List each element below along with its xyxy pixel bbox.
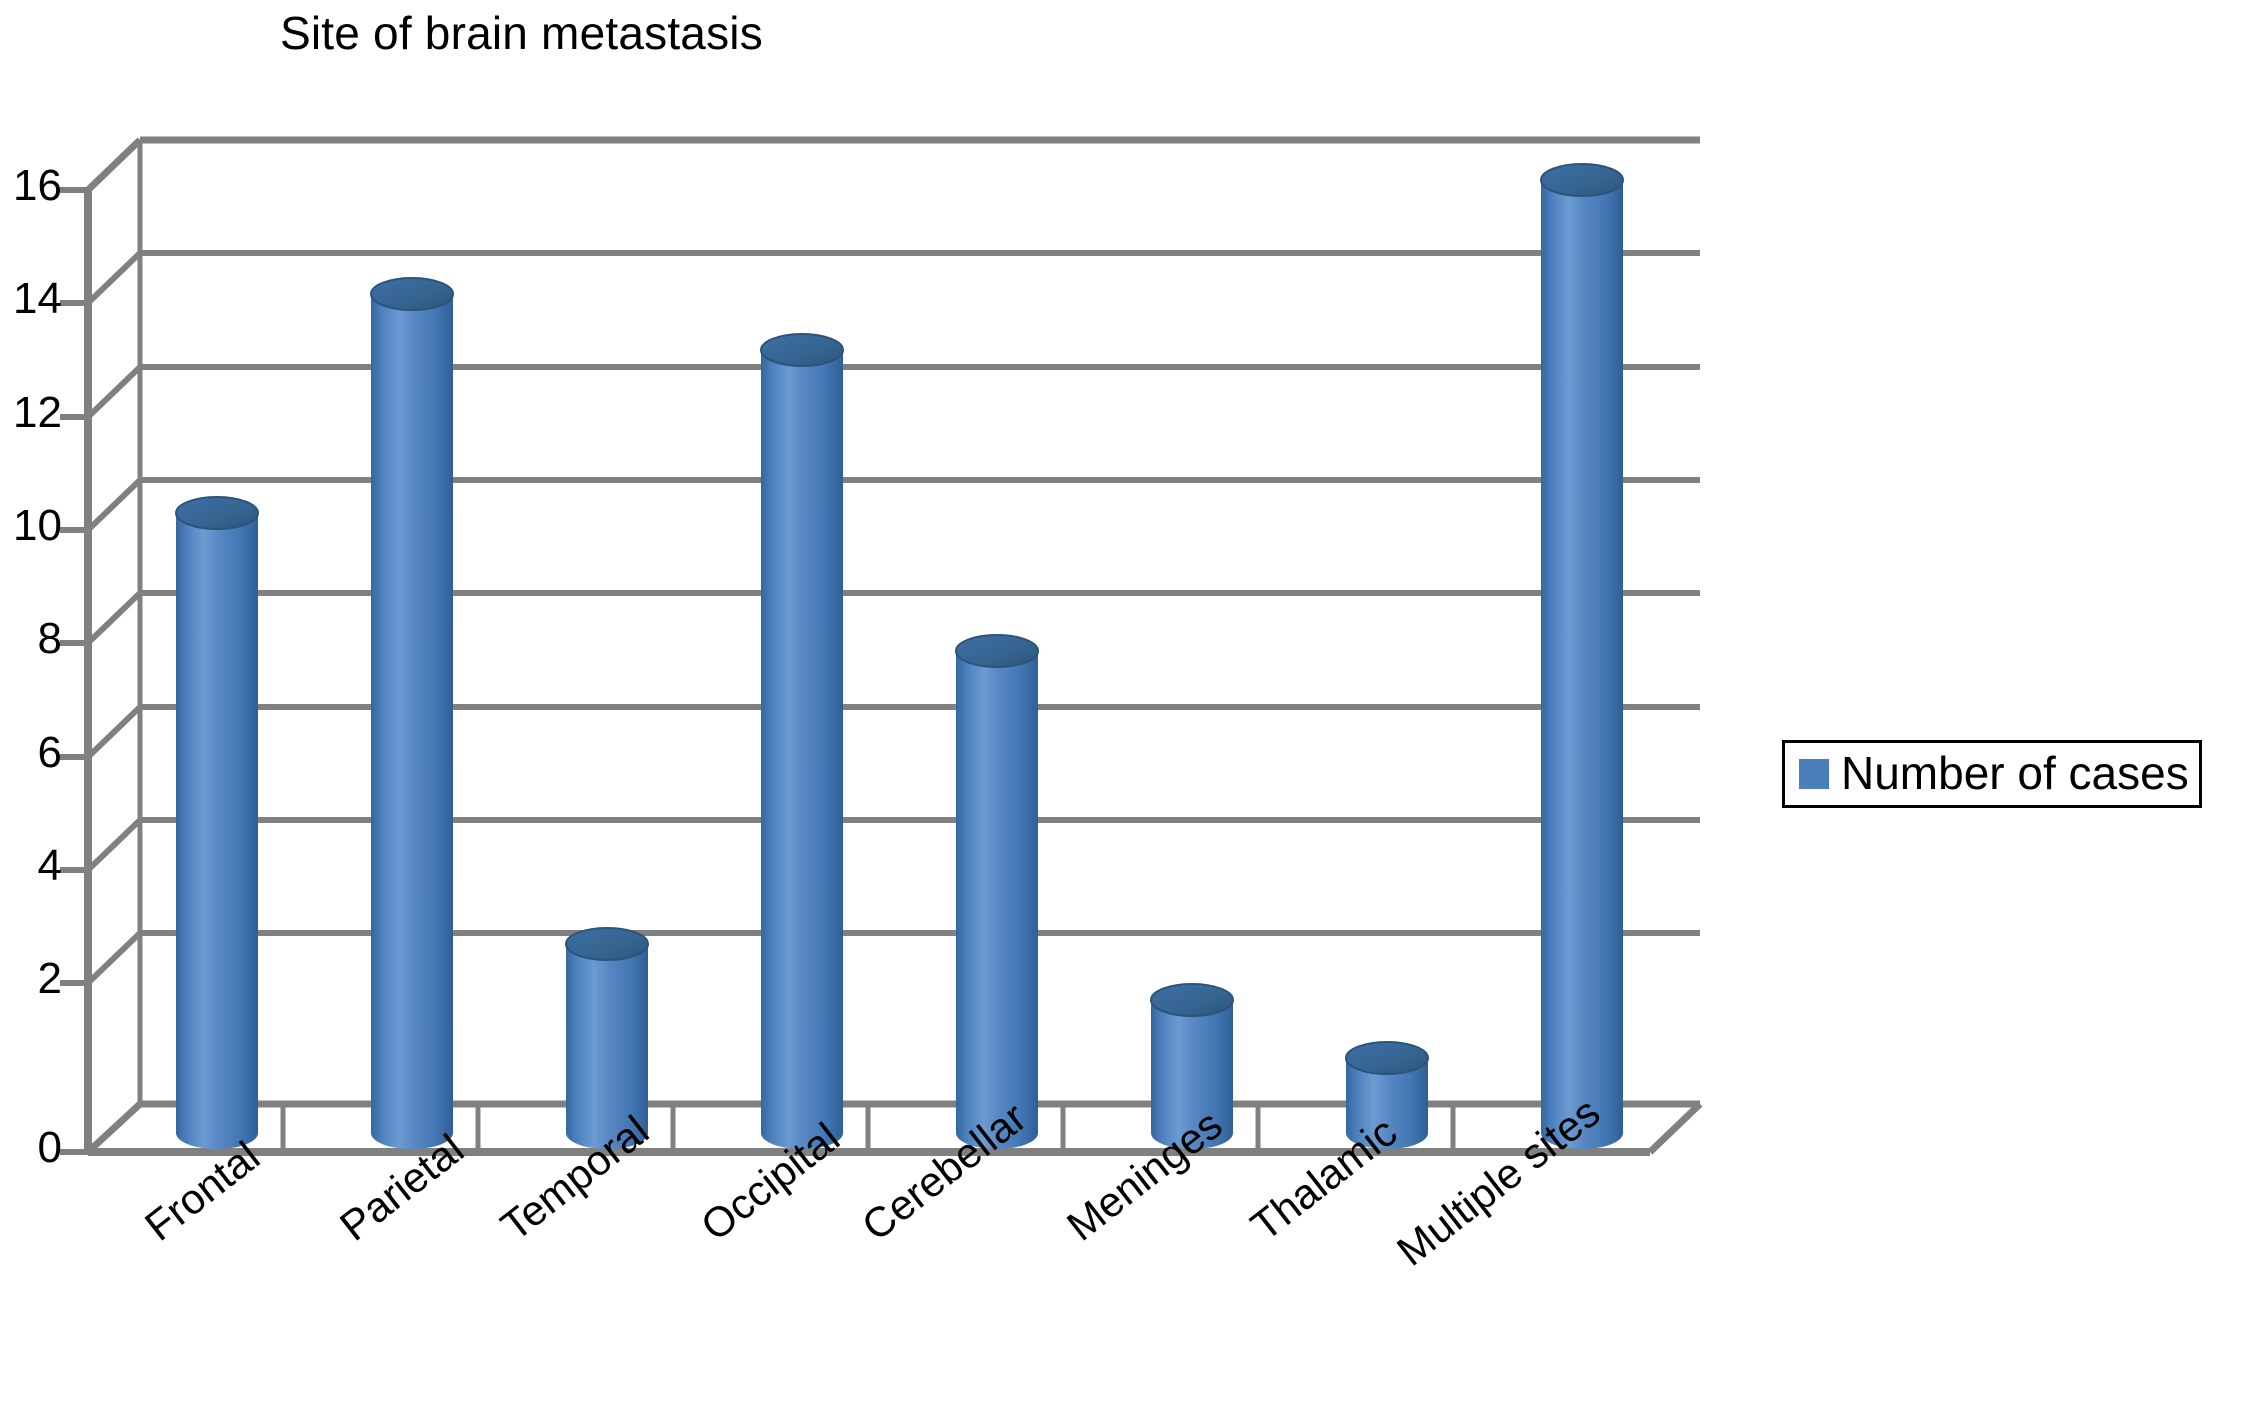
gridline-10 [60,480,1700,530]
y-tick-0: 0 [2,1126,62,1170]
y-tick-8: 8 [2,617,62,661]
y-tick-10: 10 [2,504,62,548]
gridline-2 [60,933,1700,983]
bar-multiple-sites[interactable] [1541,164,1623,1149]
gridline-8 [60,593,1700,643]
y-tick-16: 16 [2,164,62,208]
bar-parietal[interactable] [371,278,453,1149]
gridline-6 [60,707,1700,757]
bar-frontal[interactable] [176,497,258,1149]
y-axis-tick-labels: 16 14 12 10 8 6 4 2 0 [0,0,62,1405]
gridline-14 [60,253,1700,303]
y-tick-2: 2 [2,957,62,1001]
bar-occipital[interactable] [761,334,843,1149]
bar-cerebellar[interactable] [956,635,1038,1149]
chart-legend[interactable]: Number of cases [1782,740,2202,808]
legend-entry-label: Number of cases [1841,750,2189,796]
gridline-16 [60,140,1700,190]
gridline-12 [60,367,1700,417]
gridline-4 [60,820,1700,870]
y-tick-6: 6 [2,731,62,775]
chart-axes-frame [88,140,1700,1152]
chart-plot-area: 16 14 12 10 8 6 4 2 0 Frontal Parietal T… [0,0,1760,1405]
y-tick-12: 12 [2,391,62,435]
y-tick-14: 14 [2,277,62,321]
legend-color-swatch-icon [1799,759,1829,789]
y-tick-4: 4 [2,844,62,888]
